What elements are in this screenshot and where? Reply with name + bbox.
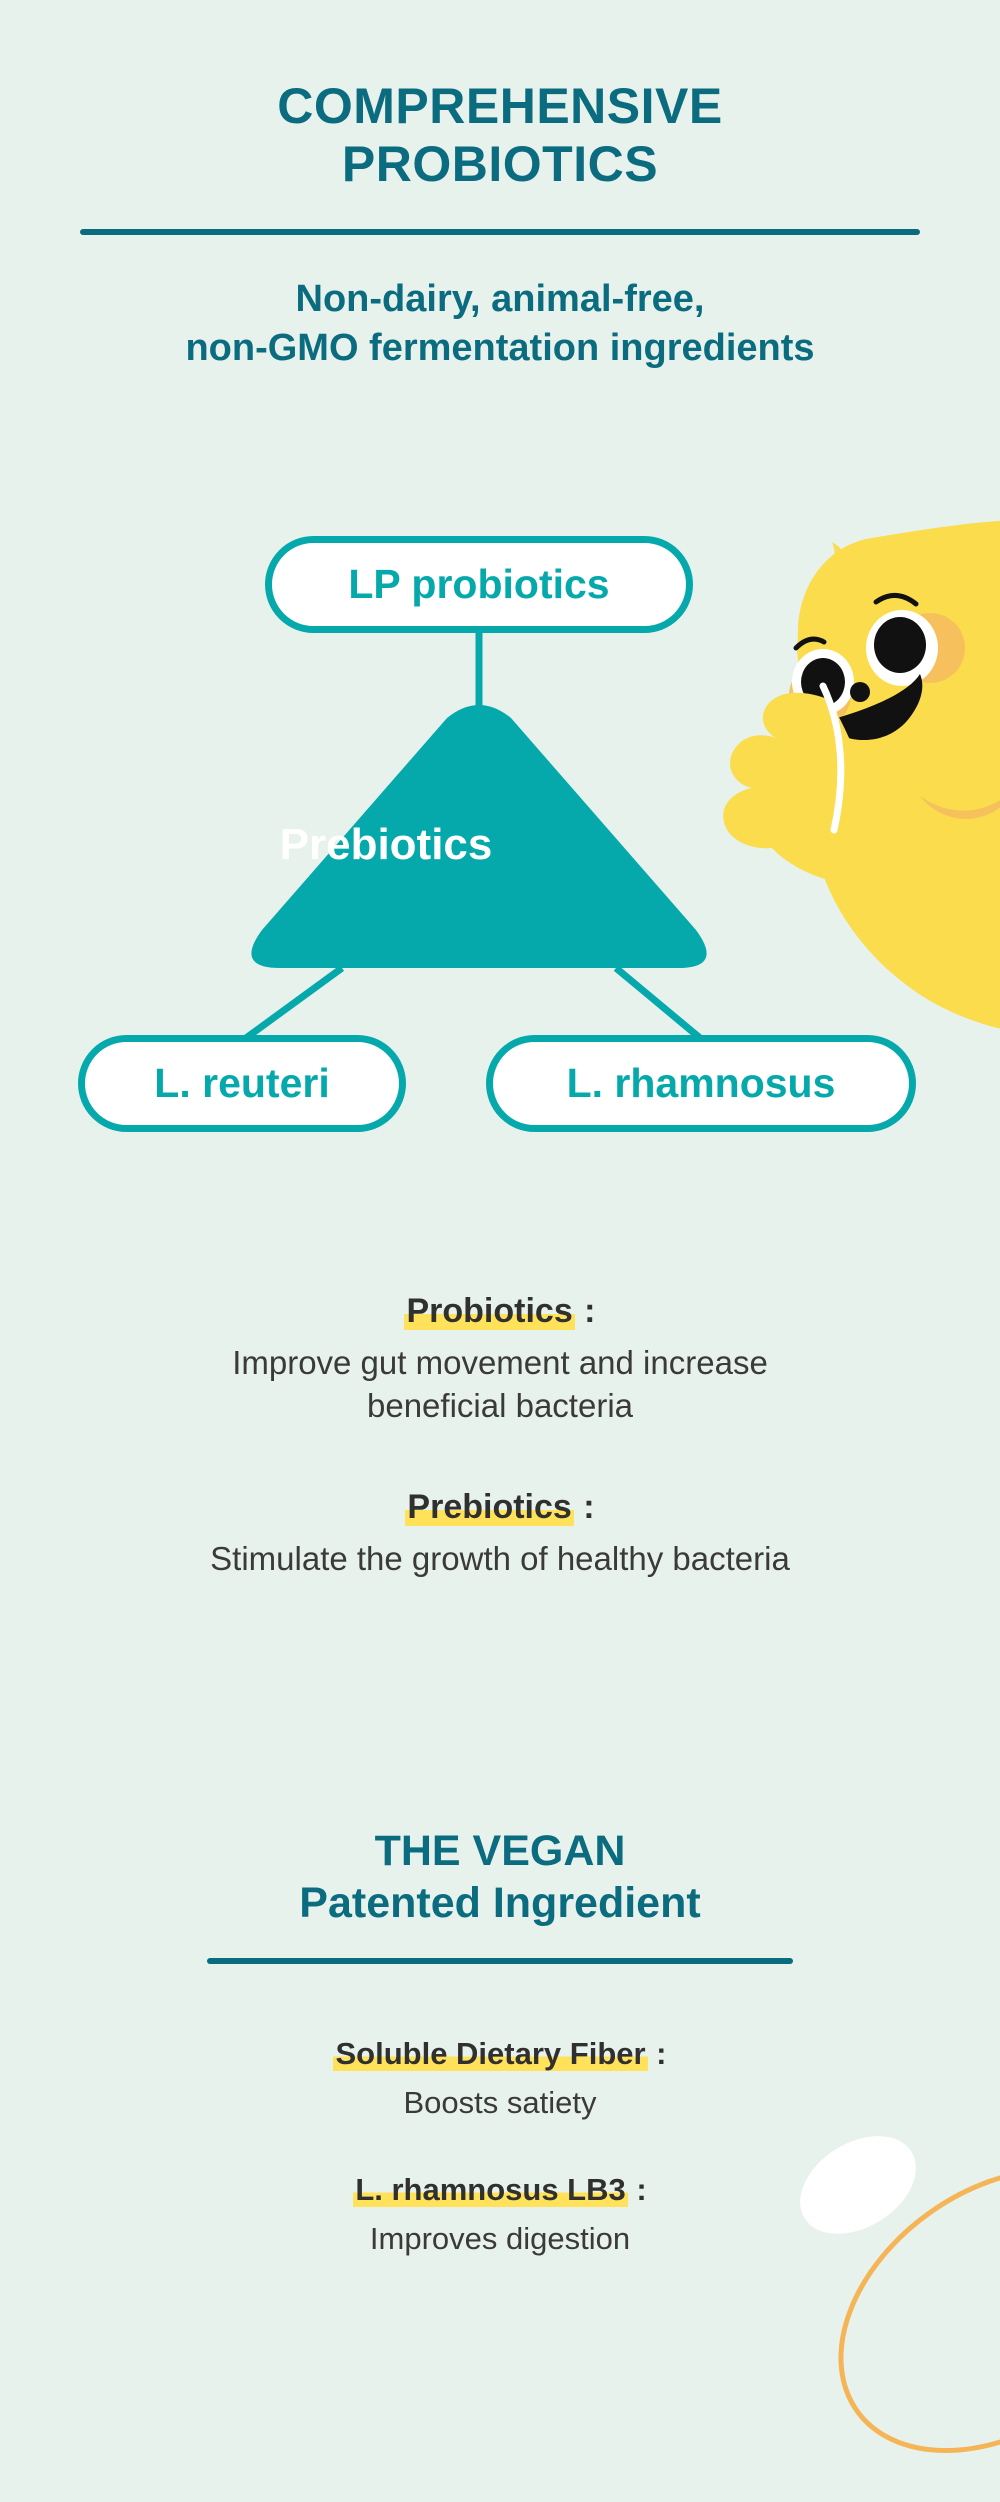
header-block: COMPREHENSIVE PROBIOTICS Non-dairy, anim… [0,0,1000,374]
fact-term-text: Soluble Dietary Fiber [333,2036,647,2071]
fact-description: Improves digestion [0,2218,1000,2259]
connector-left [246,968,342,1038]
fact-description: Stimulate the growth of healthy bacteria [0,1537,1000,1581]
facts-section-1: Probiotics : Improve gut movement and in… [0,1290,1000,1639]
fact-term: Probiotics : [404,1290,595,1333]
fact-term: Prebiotics : [405,1486,594,1529]
fact-item: L. rhamnosus LB3 : Improves digestion [0,2171,1000,2259]
mascot-eye-right-pupil [874,617,926,673]
fact-term: Soluble Dietary Fiber : [333,2035,666,2074]
header-divider [80,229,920,235]
fact-term-text: Prebiotics [405,1488,573,1526]
node-l-rhamnosus[interactable]: L. rhamnosus [486,1035,916,1132]
fact-term: L. rhamnosus LB3 : [353,2171,646,2210]
section2-title: THE VEGAN Patented Ingredient [0,1825,1000,1930]
node-l-reuteri[interactable]: L. reuteri [78,1035,406,1132]
fact-term-text: L. rhamnosus LB3 [353,2172,627,2207]
facts-section-2: Soluble Dietary Fiber : Boosts satiety L… [0,2035,1000,2307]
fact-item: Soluble Dietary Fiber : Boosts satiety [0,2035,1000,2123]
fact-description: Boosts satiety [0,2082,1000,2123]
infographic-page: COMPREHENSIVE PROBIOTICS Non-dairy, anim… [0,0,1000,2502]
mascot-body-group [723,520,1000,1034]
fact-term-colon: : [574,1488,595,1526]
fact-term-colon: : [575,1292,596,1330]
fact-term-text: Probiotics [404,1292,574,1330]
mascot-nose [850,682,870,702]
fact-item: Probiotics : Improve gut movement and in… [0,1290,1000,1428]
page-title: COMPREHENSIVE PROBIOTICS [0,0,1000,193]
header-subtitle: Non-dairy, animal-free, non-GMO fermenta… [0,275,1000,374]
node-prebiotics-label: Prebiotics [164,820,608,870]
section2-divider [207,1958,793,1964]
fact-term-colon: : [628,2172,647,2207]
fact-item: Prebiotics : Stimulate the growth of hea… [0,1486,1000,1580]
section2-header: THE VEGAN Patented Ingredient [0,1825,1000,1964]
fact-description: Improve gut movement and increase benefi… [0,1341,1000,1429]
node-lp-probiotics[interactable]: LP probiotics [265,536,693,633]
fact-term-colon: : [648,2036,667,2071]
